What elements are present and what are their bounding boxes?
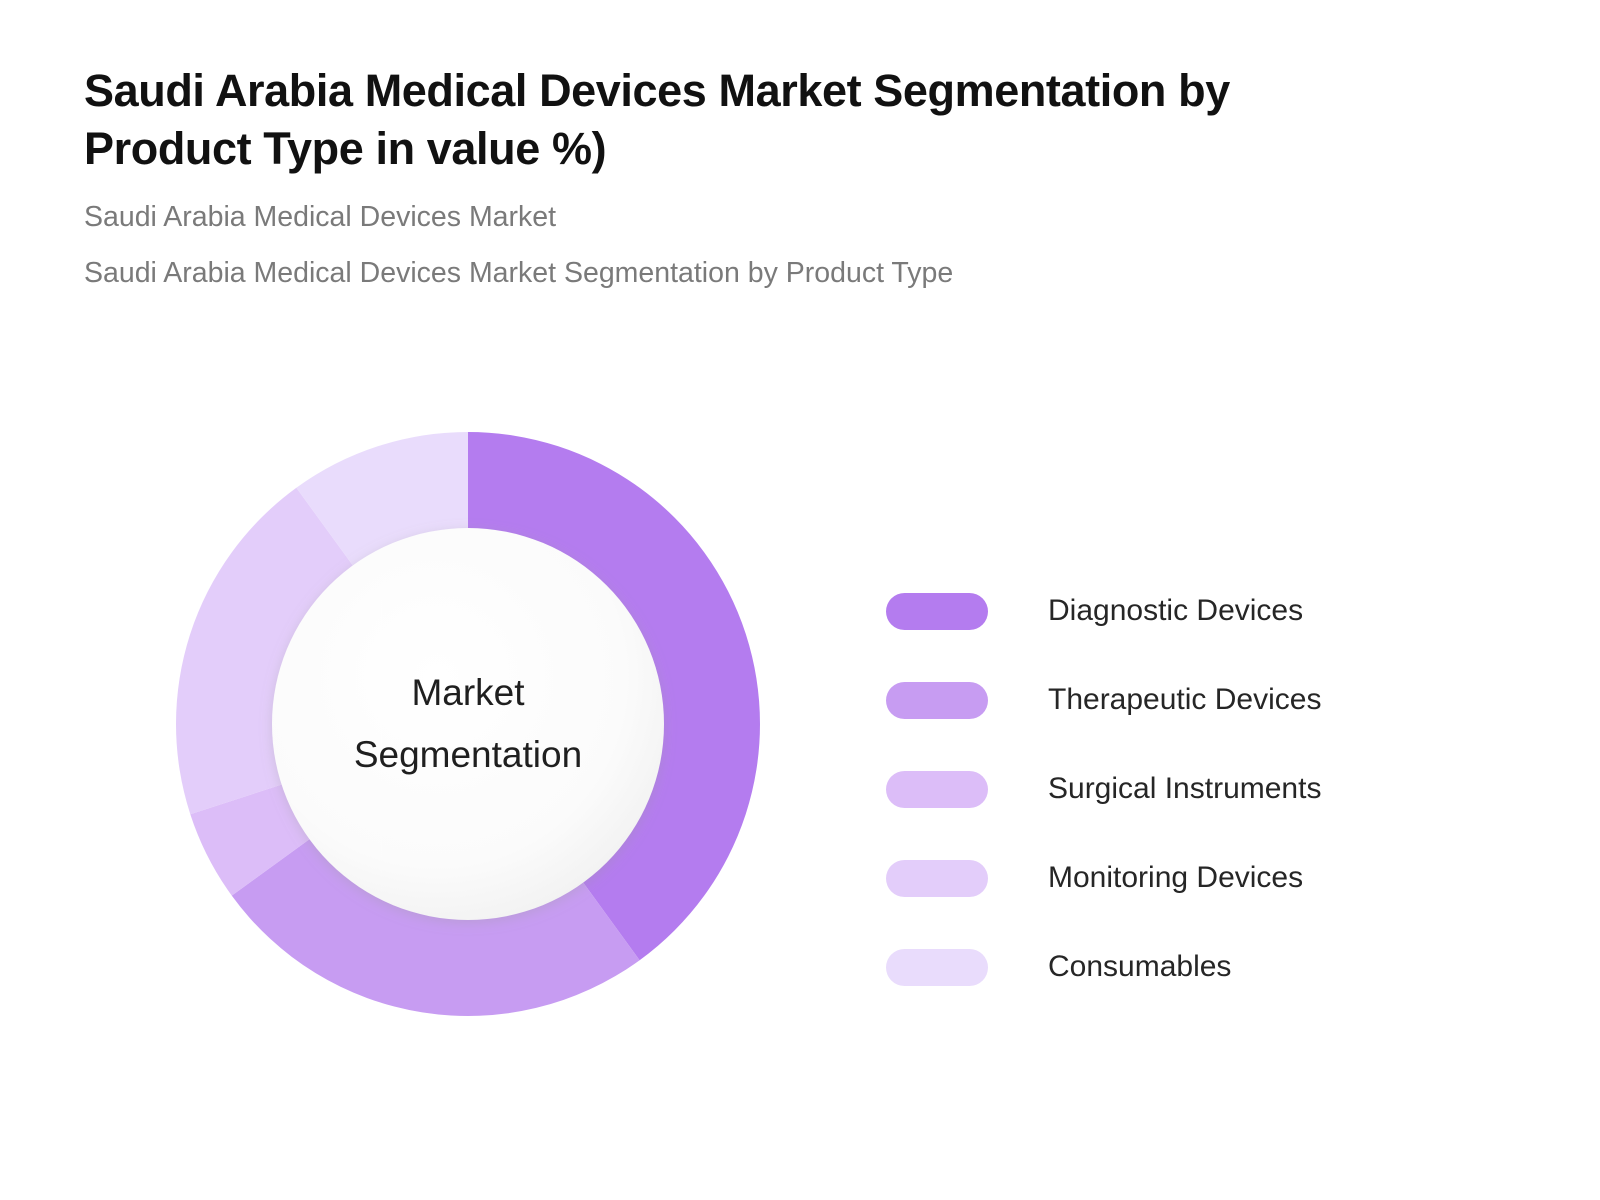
legend-item[interactable]: Therapeutic Devices <box>886 673 1406 727</box>
legend-item-label: Diagnostic Devices <box>1048 594 1303 628</box>
legend-item[interactable]: Surgical Instruments <box>886 762 1406 816</box>
legend-swatch-icon <box>886 593 988 630</box>
legend-swatch-icon <box>886 949 988 986</box>
donut-svg: Diagnostic Devices 40%Therapeutic Device… <box>176 432 760 1016</box>
legend-item[interactable]: Diagnostic Devices <box>886 584 1406 638</box>
legend-swatch-icon <box>886 771 988 808</box>
legend-item-label: Consumables <box>1048 950 1231 984</box>
donut-chart: Diagnostic Devices 40%Therapeutic Device… <box>176 432 760 1016</box>
donut-center-hole <box>272 528 664 920</box>
chart-legend: Diagnostic DevicesTherapeutic DevicesSur… <box>886 584 1406 994</box>
legend-item-label: Monitoring Devices <box>1048 861 1303 895</box>
legend-swatch-icon <box>886 682 988 719</box>
legend-item[interactable]: Monitoring Devices <box>886 851 1406 905</box>
legend-item-label: Surgical Instruments <box>1048 772 1321 806</box>
legend-item[interactable]: Consumables <box>886 940 1406 994</box>
chart-page: Saudi Arabia Medical Devices Market Segm… <box>0 0 1600 1200</box>
legend-swatch-icon <box>886 860 988 897</box>
chart-area: Diagnostic Devices 40%Therapeutic Device… <box>0 0 1600 1200</box>
legend-item-label: Therapeutic Devices <box>1048 683 1321 717</box>
